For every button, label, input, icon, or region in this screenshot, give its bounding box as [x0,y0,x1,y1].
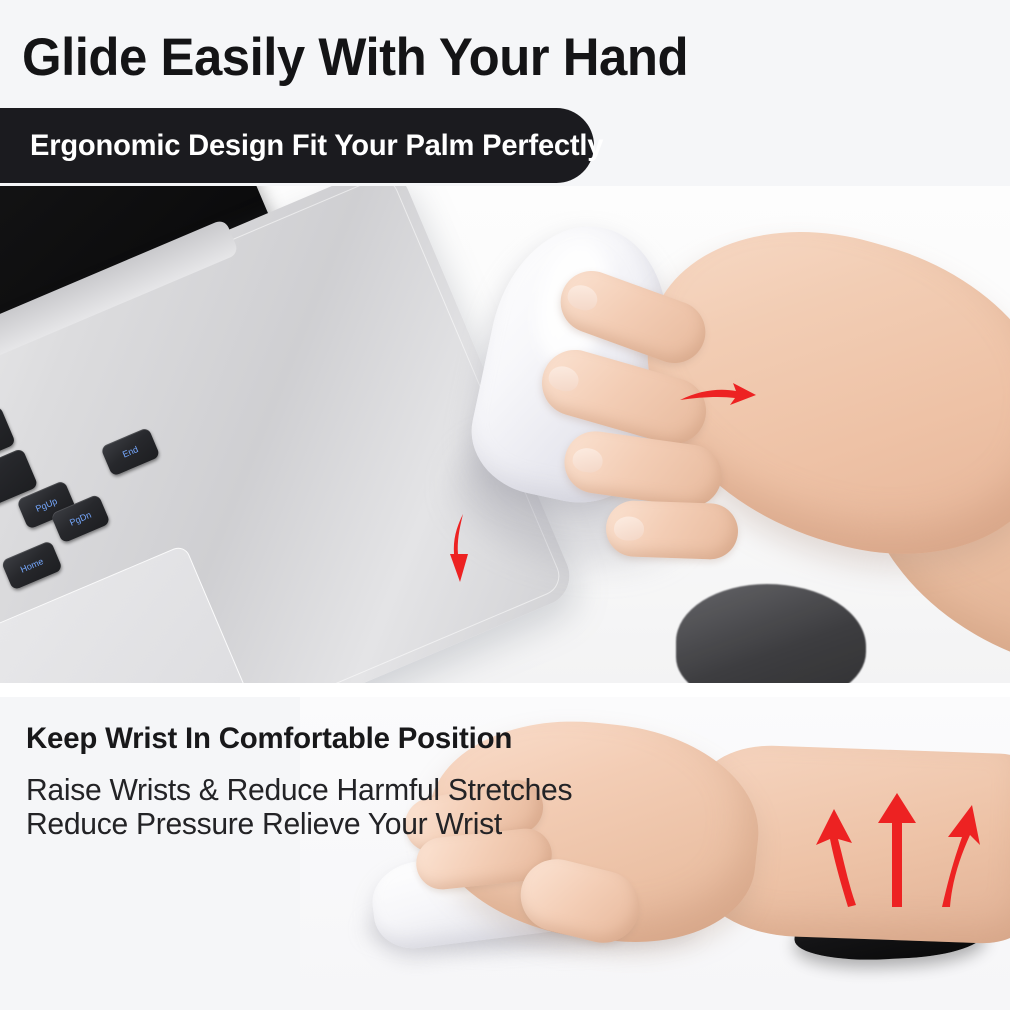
top-feature-panel: Glide Easily With Your Hand Ergonomic De… [0,0,1010,683]
product-feature-image: Glide Easily With Your Hand Ergonomic De… [0,0,1010,1010]
key-home: Home [1,540,63,591]
benefit-line-2: Reduce Pressure Relieve Your Wrist [26,806,502,842]
glide-down-arrow [437,512,485,584]
ergonomic-design-badge: Ergonomic Design Fit Your Palm Perfectly [0,108,594,183]
hand-on-mouse-photo: Backspace \ Enter Shift PgUp PgDn End Ho… [0,186,1010,683]
key-end: End [100,427,160,477]
section-divider [0,683,1010,697]
section-heading: Keep Wrist In Comfortable Position [26,722,512,756]
glide-right-arrow [678,378,758,418]
hand-on-mouse [520,206,1010,676]
benefit-line-1: Raise Wrists & Reduce Harmful Stretches [26,772,572,808]
fingernail [614,516,645,541]
bottom-feature-panel: Keep Wrist In Comfortable Position Raise… [0,697,1010,1010]
page-title: Glide Easily With Your Hand [22,27,688,88]
fingernail [546,363,581,394]
fingernail [571,446,604,474]
fingernail [564,281,600,314]
badge-label: Ergonomic Design Fit Your Palm Perfectly [30,129,603,163]
wrist-support-arrows [800,789,990,909]
little-finger [605,500,739,561]
